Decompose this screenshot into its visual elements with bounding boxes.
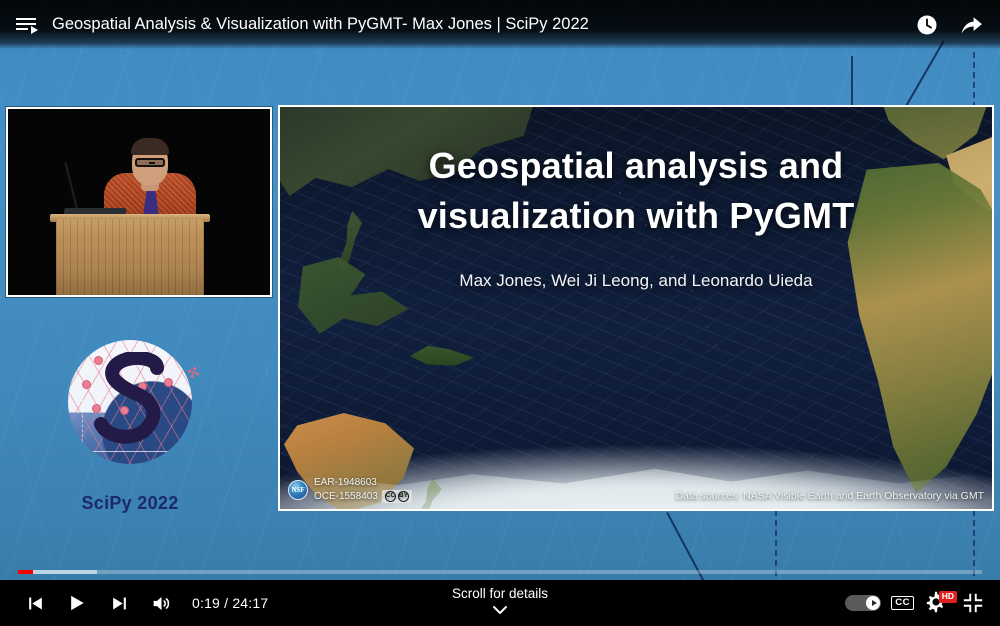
speaker-scene (8, 109, 270, 295)
player-top-bar: Geospatial Analysis & Visualization with… (0, 0, 1000, 49)
video-player: ✣ SciPy 2022 Geospatial (0, 0, 1000, 626)
data-sources-caption: Data sources: NASA Visible Earth and Ear… (675, 490, 984, 502)
player-controls-bar: 0:19 / 24:17 Scroll for details CC HD (0, 580, 1000, 626)
playlist-queue-icon[interactable] (16, 17, 38, 33)
slide-title-line-2: visualization with PyGMT (280, 191, 992, 241)
creative-commons-badge: CC BY (382, 490, 412, 503)
next-video-button[interactable] (98, 580, 140, 626)
cc-by-icon: BY (398, 491, 409, 502)
slide-footer-left: NSF EAR-1948603 OCE-1558403 CC BY (288, 476, 412, 503)
nsf-logo-icon: NSF (288, 480, 308, 500)
mute-button[interactable] (140, 580, 182, 626)
slide-title-line-1: Geospatial analysis and (280, 141, 992, 191)
time-display: 0:19 / 24:17 (192, 595, 268, 611)
video-title[interactable]: Geospatial Analysis & Visualization with… (52, 15, 900, 34)
quality-hd-badge: HD (939, 591, 957, 603)
play-button[interactable] (56, 580, 98, 626)
settings-gear-icon[interactable]: HD (924, 590, 950, 616)
grant-number-1: EAR-1948603 (314, 476, 412, 490)
podium-wood-grain (56, 219, 204, 295)
share-arrow-icon[interactable] (958, 12, 984, 38)
scipy-logo-circle (68, 340, 192, 464)
scipy-logo-caption: SciPy 2022 (50, 493, 210, 514)
autoplay-toggle[interactable] (845, 595, 881, 611)
subtitles-cc-button[interactable]: CC (891, 596, 914, 610)
controls-right: CC HD (845, 580, 986, 626)
speaker-glasses (135, 158, 165, 167)
clock-icon[interactable] (914, 12, 940, 38)
progress-played (18, 570, 33, 574)
progress-bar[interactable] (0, 564, 1000, 580)
scipy-2022-logo: ✣ (68, 340, 192, 464)
chevron-down-icon[interactable] (492, 602, 508, 620)
deco-dashed-line-2 (973, 52, 975, 108)
speaker-camera-feed (6, 107, 272, 297)
exit-fullscreen-button[interactable] (960, 590, 986, 616)
deco-vertical-tick (851, 56, 853, 106)
grant-number-2: OCE-1558403 (314, 490, 378, 504)
scroll-for-details-label[interactable]: Scroll for details (452, 586, 548, 601)
scipy-logo-s-curve (85, 352, 175, 452)
previous-video-button[interactable] (14, 580, 56, 626)
controls-left: 0:19 / 24:17 (0, 580, 268, 626)
top-actions (914, 12, 984, 38)
speaker-hair (131, 138, 169, 155)
progress-track[interactable] (18, 570, 982, 574)
slide-authors: Max Jones, Wei Ji Leong, and Leonardo Ui… (280, 271, 992, 291)
queue-play-triangle (31, 26, 38, 34)
autoplay-knob (866, 596, 880, 610)
presentation-slide: Geospatial analysis and visualization wi… (278, 105, 994, 511)
podium (56, 219, 204, 295)
slide-title: Geospatial analysis and visualization wi… (280, 141, 992, 240)
video-stage[interactable]: ✣ SciPy 2022 Geospatial (0, 0, 1000, 626)
grant-numbers: EAR-1948603 OCE-1558403 CC BY (314, 476, 412, 503)
deco-diagonal-1 (905, 40, 945, 107)
cc-icon: CC (385, 491, 396, 502)
